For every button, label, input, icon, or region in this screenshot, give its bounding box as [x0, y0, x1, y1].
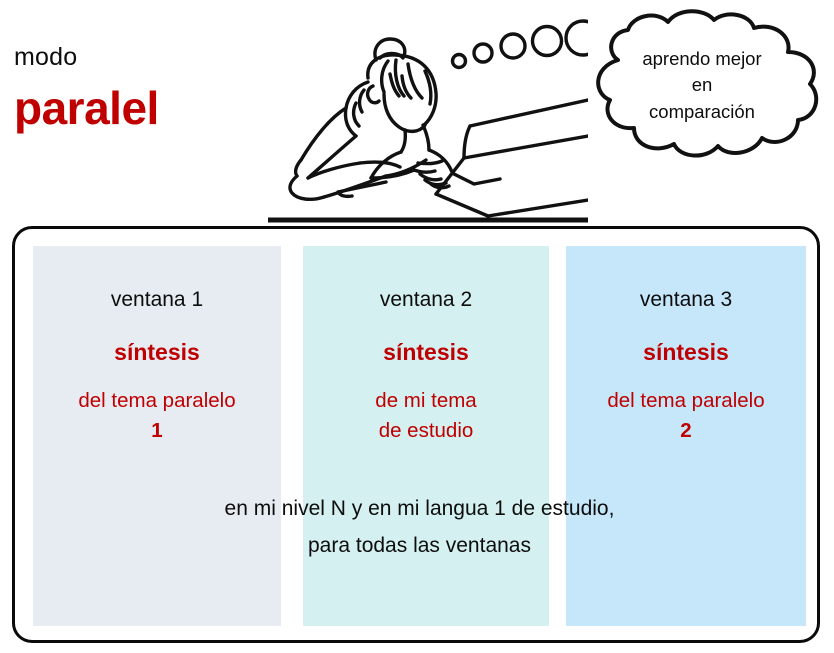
column-3-description: del tema paralelo 2	[566, 386, 806, 445]
header-area: modo paralel	[0, 0, 834, 225]
column-2-description: de mi tema de estudio	[303, 386, 549, 445]
person-laptop-drawing	[268, 8, 588, 226]
thought-cloud: aprendo mejor en comparación	[576, 8, 828, 168]
page-title-small: modo	[14, 44, 284, 72]
column-2-desc-emphasis: de estudio	[303, 416, 549, 446]
thought-cloud-text: aprendo mejor en comparación	[596, 46, 808, 125]
title-block: modo paralel	[14, 44, 284, 134]
column-1-title: ventana 1	[33, 288, 281, 312]
column-ventana-2[interactable]: ventana 2 síntesis de mi tema de estudio	[303, 246, 549, 626]
column-1-description: del tema paralelo 1	[33, 386, 281, 445]
windows-panel: ventana 1 síntesis del tema paralelo 1 v…	[12, 226, 820, 643]
column-3-desc-emphasis: 2	[566, 416, 806, 446]
column-3-title: ventana 3	[566, 288, 806, 312]
column-2-synthesis-label: síntesis	[303, 339, 549, 366]
thought-cloud-line-2: en	[596, 72, 808, 98]
column-ventana-1[interactable]: ventana 1 síntesis del tema paralelo 1	[33, 246, 281, 626]
thought-cloud-line-3: comparación	[596, 99, 808, 125]
column-2-title: ventana 2	[303, 288, 549, 312]
thought-cloud-line-1: aprendo mejor	[596, 46, 808, 72]
column-ventana-3[interactable]: ventana 3 síntesis del tema paralelo 2	[566, 246, 806, 626]
column-3-desc-text: del tema paralelo	[607, 389, 764, 412]
column-1-desc-emphasis: 1	[33, 416, 281, 446]
person-studying-at-laptop-illustration	[268, 8, 588, 226]
page-title-large: paralel	[14, 82, 284, 135]
column-2-desc-text: de mi tema	[375, 389, 476, 412]
column-3-synthesis-label: síntesis	[566, 339, 806, 366]
column-1-desc-text: del tema paralelo	[78, 389, 235, 412]
column-1-synthesis-label: síntesis	[33, 339, 281, 366]
